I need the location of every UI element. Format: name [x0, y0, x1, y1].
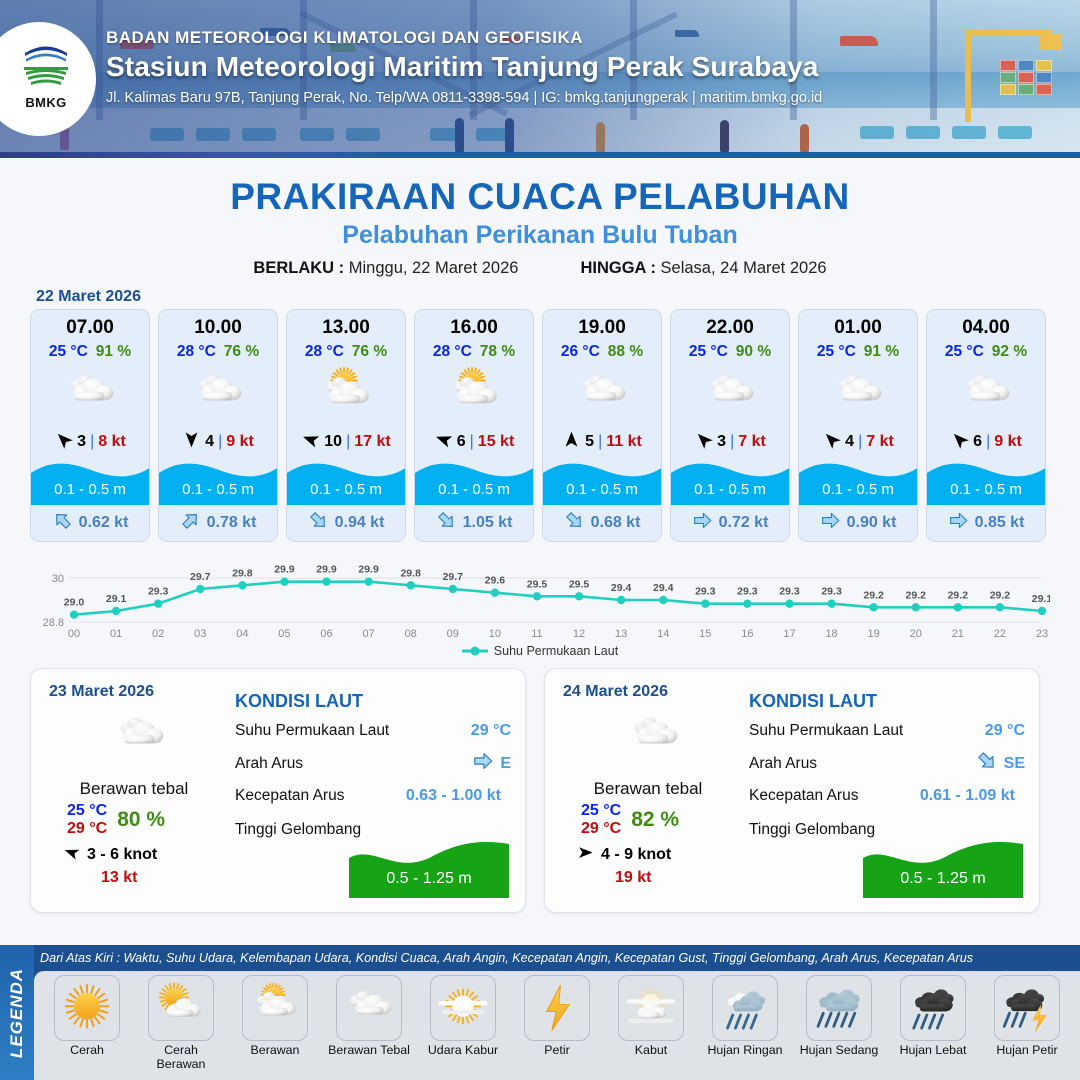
svg-text:15: 15 — [699, 628, 711, 640]
legend-caption: Dari Atas Kiri : Waktu, Suhu Udara, Kele… — [40, 951, 973, 965]
card-weather-partly-icon — [415, 363, 533, 427]
daily-date: 23 Maret 2026 — [49, 683, 231, 701]
daily-condition: Berawan tebal — [563, 779, 733, 799]
legend-item-label: Cerah — [70, 1044, 104, 1058]
valid-to: HINGGA : Selasa, 24 Maret 2026 — [580, 259, 826, 278]
card-wind-speed: 3 — [77, 433, 86, 451]
svg-text:29.2: 29.2 — [906, 589, 927, 601]
svg-text:20: 20 — [910, 628, 922, 640]
card-current-direction-arrow-icon — [948, 510, 969, 536]
card-current-speed: 0.94 kt — [335, 514, 385, 532]
sst-value: 29 °C — [985, 722, 1025, 740]
card-wind-separator: | — [470, 433, 474, 451]
card-gust-speed: 7 kt — [738, 433, 766, 451]
legend-sun-cloud-icon — [148, 975, 214, 1041]
chart-legend-marker-icon — [462, 645, 488, 657]
svg-text:29.2: 29.2 — [948, 589, 969, 601]
current-speed-value: 0.61 - 1.09 kt — [920, 787, 1015, 805]
agency-name: BADAN METEOROLOGI KLIMATOLOGI DAN GEOFIS… — [106, 28, 1056, 48]
legend-cloud-sun-icon — [242, 975, 308, 1041]
hourly-card: 19.00 26 °C 88 % — [542, 309, 662, 542]
card-wave-height: 0.1 - 0.5 m — [287, 481, 405, 498]
legend-item-label: Hujan Sedang — [800, 1044, 879, 1058]
card-humidity: 91 % — [864, 343, 899, 361]
card-wind-speed: 4 — [205, 433, 214, 451]
current-direction-value: E — [500, 755, 511, 773]
svg-text:18: 18 — [825, 628, 837, 640]
current-speed-value: 0.63 - 1.00 kt — [406, 787, 501, 805]
svg-text:09: 09 — [447, 628, 459, 640]
legend-rain-mid-icon — [806, 975, 872, 1041]
page-subtitle: Pelabuhan Perikanan Bulu Tuban — [0, 221, 1080, 250]
svg-text:02: 02 — [152, 628, 164, 640]
hourly-card: 13.00 28 °C 76 % — [286, 309, 406, 542]
hourly-card: 22.00 25 °C 90 % — [670, 309, 790, 542]
card-wind-direction-arrow-icon — [562, 430, 581, 454]
svg-text:29.7: 29.7 — [443, 571, 464, 583]
svg-text:16: 16 — [741, 628, 753, 640]
legend-fog-icon — [618, 975, 684, 1041]
svg-text:29.1: 29.1 — [1032, 593, 1050, 605]
card-current-direction-arrow-icon — [180, 510, 201, 536]
legend-haze-icon — [430, 975, 496, 1041]
svg-text:29.1: 29.1 — [106, 593, 127, 605]
card-wind-separator: | — [598, 433, 602, 451]
legend-item: Berawan — [232, 975, 318, 1080]
hourly-card: 04.00 25 °C 92 % — [926, 309, 1046, 542]
card-time: 04.00 — [927, 310, 1045, 339]
card-weather-cloudy-icon — [159, 363, 277, 427]
card-wind-speed: 6 — [457, 433, 466, 451]
legend-item: Udara Kabur — [420, 975, 506, 1080]
daily-forecast-panel: 24 Maret 2026 Berawan tebal — [544, 668, 1040, 913]
card-wave-height: 0.1 - 0.5 m — [799, 481, 917, 498]
card-current-speed: 0.78 kt — [207, 514, 257, 532]
svg-text:29.6: 29.6 — [485, 575, 506, 587]
daily-forecast-panel: 23 Maret 2026 Berawan tebal — [30, 668, 526, 913]
daily-gust-speed: 19 kt — [563, 869, 745, 887]
svg-text:29.5: 29.5 — [527, 578, 548, 590]
station-name: Stasiun Meteorologi Maritim Tanjung Pera… — [106, 51, 1056, 83]
hourly-forecast-row: 07.00 25 °C 91 % — [0, 309, 1080, 542]
legend-clouds-icon — [336, 975, 402, 1041]
card-humidity: 78 % — [480, 343, 515, 361]
legend-item: Hujan Ringan — [702, 975, 788, 1080]
sst-label: Suhu Permukaan Laut — [235, 722, 471, 740]
legend-item-label: Kabut — [635, 1044, 667, 1058]
svg-text:13: 13 — [615, 628, 627, 640]
card-weather-cloudy-icon — [31, 363, 149, 427]
svg-text:29.4: 29.4 — [611, 582, 632, 594]
svg-text:21: 21 — [952, 628, 964, 640]
card-current-speed: 0.62 kt — [79, 514, 129, 532]
card-current-speed: 0.68 kt — [591, 514, 641, 532]
card-wind-speed: 6 — [973, 433, 982, 451]
svg-text:29.3: 29.3 — [737, 586, 758, 598]
card-time: 01.00 — [799, 310, 917, 339]
hourly-date-label: 22 Maret 2026 — [36, 288, 1080, 306]
card-wind-direction-arrow-icon — [694, 430, 713, 454]
current-direction-value: SE — [1004, 755, 1025, 773]
legend-side-tab: LEGENDA — [0, 945, 34, 1080]
legend-side-title: LEGENDA — [7, 967, 27, 1057]
svg-text:12: 12 — [573, 628, 585, 640]
daily-temp-max: 29 °C — [67, 820, 107, 838]
card-weather-cloudy-icon — [543, 363, 661, 427]
legend-item-label: Hujan Lebat — [900, 1044, 967, 1058]
svg-text:29.0: 29.0 — [64, 597, 85, 609]
legend-rain-heavy-icon — [900, 975, 966, 1041]
card-wave-height: 0.1 - 0.5 m — [159, 481, 277, 498]
svg-text:29.8: 29.8 — [400, 567, 421, 579]
card-wave-band: 0.1 - 0.5 m — [671, 457, 789, 505]
svg-text:29.3: 29.3 — [148, 586, 169, 598]
svg-text:28.8: 28.8 — [43, 617, 64, 629]
daily-weather-overcast-icon — [49, 707, 231, 769]
card-humidity: 76 % — [352, 343, 387, 361]
bmkg-emblem-icon — [17, 36, 75, 94]
card-time: 22.00 — [671, 310, 789, 339]
card-wind-speed: 5 — [585, 433, 594, 451]
svg-text:29.7: 29.7 — [190, 571, 211, 583]
daily-date: 24 Maret 2026 — [563, 683, 745, 701]
legend-item-label: Berawan — [251, 1044, 300, 1058]
card-weather-cloudy-icon — [927, 363, 1045, 427]
card-wind-speed: 10 — [324, 433, 342, 451]
card-wind-direction-arrow-icon — [822, 430, 841, 454]
sea-condition-title: KONDISI LAUT — [749, 691, 1025, 712]
card-temperature: 28 °C — [177, 343, 216, 361]
hourly-card: 16.00 28 °C 78 % — [414, 309, 534, 542]
svg-text:17: 17 — [783, 628, 795, 640]
legend-item: Petir — [514, 975, 600, 1080]
card-wind-separator: | — [218, 433, 222, 451]
daily-temp-max: 29 °C — [581, 820, 621, 838]
card-wave-band: 0.1 - 0.5 m — [543, 457, 661, 505]
current-direction-label: Arah Arus — [749, 755, 976, 773]
legend-item: Hujan Sedang — [796, 975, 882, 1080]
legend-items-panel: Cerah Cerah Berawan — [34, 971, 1080, 1080]
card-current-direction-arrow-icon — [52, 510, 73, 536]
card-wave-band: 0.1 - 0.5 m — [799, 457, 917, 505]
card-humidity: 88 % — [608, 343, 643, 361]
card-weather-cloudy-icon — [799, 363, 917, 427]
wave-height-value: 0.5 - 1.25 m — [863, 870, 1023, 888]
legend-item: Cerah — [44, 975, 130, 1080]
legend-item: Berawan Tebal — [326, 975, 412, 1080]
legend-item: Hujan Lebat — [890, 975, 976, 1080]
svg-text:11: 11 — [531, 628, 542, 640]
sst-label: Suhu Permukaan Laut — [749, 722, 985, 740]
chart-legend: Suhu Permukaan Laut — [0, 644, 1080, 658]
svg-text:01: 01 — [110, 628, 122, 640]
card-weather-cloudy-icon — [671, 363, 789, 427]
card-wind-separator: | — [858, 433, 862, 451]
svg-text:06: 06 — [320, 628, 332, 640]
svg-text:29.4: 29.4 — [653, 582, 674, 594]
card-wind-direction-arrow-icon — [950, 430, 969, 454]
daily-gust-speed: 13 kt — [49, 869, 231, 887]
card-current-direction-arrow-icon — [820, 510, 841, 536]
card-humidity: 76 % — [224, 343, 259, 361]
svg-text:05: 05 — [278, 628, 290, 640]
svg-text:10: 10 — [489, 628, 501, 640]
current-direction-arrow-icon — [976, 750, 998, 777]
card-gust-speed: 8 kt — [98, 433, 126, 451]
daily-temp-min: 25 °C — [581, 802, 621, 820]
svg-text:00: 00 — [68, 628, 80, 640]
contact-info: Jl. Kalimas Baru 97B, Tanjung Perak, No.… — [106, 90, 1056, 106]
daily-wind-direction-arrow-icon — [63, 844, 80, 866]
valid-from: BERLAKU : Minggu, 22 Maret 2026 — [253, 259, 518, 278]
card-wave-height: 0.1 - 0.5 m — [543, 481, 661, 498]
legend-section: LEGENDA Dari Atas Kiri : Waktu, Suhu Uda… — [0, 945, 1080, 1080]
legend-item-label: Cerah Berawan — [138, 1044, 224, 1071]
svg-text:30: 30 — [52, 573, 64, 585]
svg-text:29.9: 29.9 — [274, 564, 295, 576]
card-temperature: 25 °C — [49, 343, 88, 361]
card-wind-direction-arrow-icon — [301, 430, 320, 454]
card-time: 13.00 — [287, 310, 405, 339]
card-humidity: 90 % — [736, 343, 771, 361]
card-wind-direction-arrow-icon — [434, 430, 453, 454]
current-direction-arrow-icon — [472, 750, 494, 777]
card-current-speed: 0.90 kt — [847, 514, 897, 532]
card-gust-speed: 9 kt — [226, 433, 254, 451]
daily-wind-direction-arrow-icon — [577, 844, 594, 866]
sea-condition-title: KONDISI LAUT — [235, 691, 511, 712]
card-gust-speed: 7 kt — [866, 433, 894, 451]
svg-text:29.3: 29.3 — [695, 586, 716, 598]
hourly-card: 10.00 28 °C 76 % — [158, 309, 278, 542]
card-current-speed: 0.85 kt — [975, 514, 1025, 532]
daily-wind-speed: 4 - 9 knot — [601, 846, 671, 864]
page-header: BMKG BADAN METEOROLOGI KLIMATOLOGI DAN G… — [0, 0, 1080, 158]
svg-text:03: 03 — [194, 628, 206, 640]
valid-from-value: Minggu, 22 Maret 2026 — [349, 259, 519, 277]
legend-item-label: Petir — [544, 1044, 569, 1058]
card-temperature: 25 °C — [689, 343, 728, 361]
legend-item-label: Hujan Petir — [996, 1044, 1057, 1058]
legend-item: Hujan Petir — [984, 975, 1070, 1080]
sst-chart: 3028.829.00029.10129.30229.70329.80429.9… — [0, 550, 1080, 642]
card-weather-partly-icon — [287, 363, 405, 427]
chart-legend-label: Suhu Permukaan Laut — [494, 644, 618, 658]
card-wave-height: 0.1 - 0.5 m — [927, 481, 1045, 498]
svg-text:19: 19 — [868, 628, 880, 640]
card-gust-speed: 11 kt — [606, 433, 642, 451]
bmkg-logo-text: BMKG — [25, 95, 66, 110]
card-wind-separator: | — [90, 433, 94, 451]
current-direction-label: Arah Arus — [235, 755, 472, 773]
card-time: 10.00 — [159, 310, 277, 339]
daily-condition: Berawan tebal — [49, 779, 219, 799]
card-gust-speed: 9 kt — [994, 433, 1022, 451]
card-wave-band: 0.1 - 0.5 m — [415, 457, 533, 505]
card-temperature: 26 °C — [561, 343, 600, 361]
card-wind-separator: | — [986, 433, 990, 451]
card-wind-speed: 3 — [717, 433, 726, 451]
page-title: PRAKIRAAN CUACA PELABUHAN — [0, 176, 1080, 218]
legend-bolt-icon — [524, 975, 590, 1041]
hourly-card: 07.00 25 °C 91 % — [30, 309, 150, 542]
card-time: 19.00 — [543, 310, 661, 339]
valid-to-label: HINGGA : — [580, 259, 655, 277]
card-wind-separator: | — [730, 433, 734, 451]
card-current-direction-arrow-icon — [692, 510, 713, 536]
legend-item-label: Udara Kabur — [428, 1044, 498, 1058]
card-current-direction-arrow-icon — [308, 510, 329, 536]
card-wind-separator: | — [346, 433, 350, 451]
wave-height-value: 0.5 - 1.25 m — [349, 870, 509, 888]
wave-height-badge: 0.5 - 1.25 m — [349, 836, 509, 898]
legend-item: Cerah Berawan — [138, 975, 224, 1080]
daily-wind-speed: 3 - 6 knot — [87, 846, 157, 864]
legend-item-label: Berawan Tebal — [328, 1044, 410, 1058]
legend-storm-icon — [994, 975, 1060, 1041]
sst-value: 29 °C — [471, 722, 511, 740]
svg-text:29.9: 29.9 — [316, 564, 337, 576]
svg-text:29.3: 29.3 — [779, 586, 800, 598]
card-wave-height: 0.1 - 0.5 m — [671, 481, 789, 498]
card-gust-speed: 15 kt — [478, 433, 514, 451]
card-humidity: 91 % — [96, 343, 131, 361]
daily-humidity: 82 % — [631, 808, 679, 832]
card-time: 07.00 — [31, 310, 149, 339]
validity-row: BERLAKU : Minggu, 22 Maret 2026 HINGGA :… — [0, 259, 1080, 278]
card-humidity: 92 % — [992, 343, 1027, 361]
svg-text:29.8: 29.8 — [232, 567, 253, 579]
hourly-card: 01.00 25 °C 91 % — [798, 309, 918, 542]
svg-text:22: 22 — [994, 628, 1006, 640]
card-current-speed: 0.72 kt — [719, 514, 769, 532]
card-temperature: 25 °C — [945, 343, 984, 361]
card-current-direction-arrow-icon — [564, 510, 585, 536]
legend-item-label: Hujan Ringan — [707, 1044, 782, 1058]
card-wind-direction-arrow-icon — [54, 430, 73, 454]
card-time: 16.00 — [415, 310, 533, 339]
card-wave-band: 0.1 - 0.5 m — [927, 457, 1045, 505]
card-current-speed: 1.05 kt — [463, 514, 513, 532]
svg-text:04: 04 — [236, 628, 248, 640]
daily-temp-min: 25 °C — [67, 802, 107, 820]
card-temperature: 28 °C — [305, 343, 344, 361]
daily-humidity: 80 % — [117, 808, 165, 832]
card-wave-height: 0.1 - 0.5 m — [31, 481, 149, 498]
card-wave-band: 0.1 - 0.5 m — [287, 457, 405, 505]
svg-text:07: 07 — [362, 628, 374, 640]
legend-sun-icon — [54, 975, 120, 1041]
svg-text:29.5: 29.5 — [569, 578, 590, 590]
daily-forecast-row: 23 Maret 2026 Berawan tebal — [0, 658, 1080, 913]
card-wave-band: 0.1 - 0.5 m — [31, 457, 149, 505]
valid-from-label: BERLAKU : — [253, 259, 344, 277]
card-temperature: 25 °C — [817, 343, 856, 361]
card-gust-speed: 17 kt — [354, 433, 390, 451]
svg-text:23: 23 — [1036, 628, 1048, 640]
svg-text:08: 08 — [405, 628, 417, 640]
svg-text:29.2: 29.2 — [990, 589, 1011, 601]
card-wind-speed: 4 — [845, 433, 854, 451]
card-wind-direction-arrow-icon — [182, 430, 201, 454]
svg-text:29.2: 29.2 — [863, 589, 884, 601]
wave-height-badge: 0.5 - 1.25 m — [863, 836, 1023, 898]
card-wave-height: 0.1 - 0.5 m — [415, 481, 533, 498]
card-current-direction-arrow-icon — [436, 510, 457, 536]
daily-weather-overcast-icon — [563, 707, 745, 769]
valid-to-value: Selasa, 24 Maret 2026 — [661, 259, 827, 277]
card-wave-band: 0.1 - 0.5 m — [159, 457, 277, 505]
svg-text:29.9: 29.9 — [358, 564, 379, 576]
legend-item: Kabut — [608, 975, 694, 1080]
header-bottom-bar — [0, 152, 1080, 158]
card-temperature: 28 °C — [433, 343, 472, 361]
legend-rain-light-icon — [712, 975, 778, 1041]
svg-text:14: 14 — [657, 628, 669, 640]
svg-text:29.3: 29.3 — [821, 586, 842, 598]
